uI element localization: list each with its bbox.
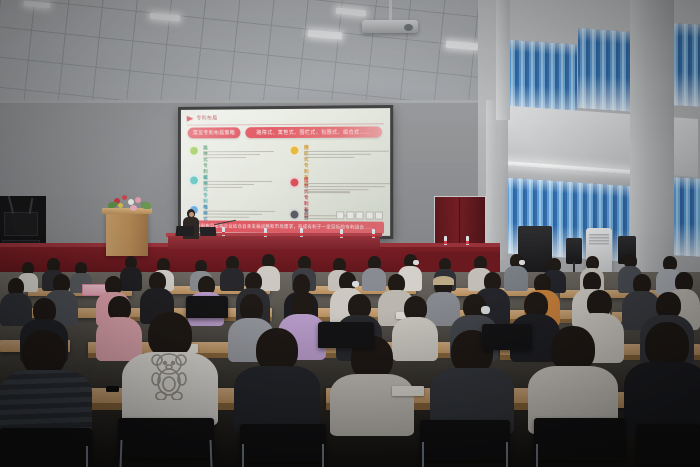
water-bottle [300, 228, 303, 237]
window-blinds-lower-right[interactable] [672, 177, 700, 257]
bullet-text-lines [304, 183, 390, 194]
flower-green-leaf [141, 202, 151, 209]
slide-pill-right: 路障式、篱笆式、围栏式、包围式、组合式…… [245, 126, 382, 138]
chair[interactable] [118, 418, 214, 458]
window-blinds-upper-right[interactable] [670, 23, 700, 107]
bullet-text-lines [203, 181, 274, 189]
podium [106, 212, 148, 256]
chair[interactable] [186, 296, 228, 318]
attendee-torso [234, 366, 320, 432]
slide-pager[interactable] [336, 211, 383, 219]
wall-ceiling-joint [0, 100, 500, 103]
lecture-hall-photo: 专利布局 常见专利布局策略 路障式、篱笆式、围栏式、包围式、组合式…… 路障式专… [0, 0, 700, 467]
av-speaker-box [4, 212, 38, 236]
pager-cell[interactable] [355, 211, 363, 219]
water-bottle [444, 236, 447, 245]
attendee [624, 322, 700, 432]
slide-surface: 专利布局 常见专利布局策略 路障式、篱笆式、围栏式、包围式、组合式…… 路障式专… [181, 108, 390, 236]
attendee [528, 326, 618, 430]
laptop [200, 227, 217, 236]
face-mask-icon [413, 260, 419, 265]
red-arrow-icon [187, 116, 194, 122]
attendee-torso [330, 374, 414, 436]
face-mask-icon [481, 306, 490, 314]
slide-header-title: 专利布局 [196, 115, 217, 122]
projector-lens-icon [404, 24, 413, 31]
projection-screen[interactable]: 专利布局 常见专利布局策略 路障式、篱笆式、围栏式、包围式、组合式…… 路障式专… [178, 105, 393, 239]
chair[interactable] [318, 322, 374, 348]
baseball-cap-icon [433, 276, 454, 285]
flower-red [122, 195, 127, 200]
flower-green-leaf [108, 202, 117, 208]
flower-pink [130, 205, 137, 211]
chair-leg [242, 444, 244, 467]
slide-pill-left: 常见专利布局策略 [188, 127, 241, 138]
chair[interactable] [0, 428, 92, 467]
bullet-dot-icon [189, 145, 200, 156]
chair-leg [422, 442, 424, 467]
mobile-phone[interactable] [106, 386, 119, 392]
bullet-dot-icon [289, 145, 300, 156]
chair[interactable] [636, 424, 700, 464]
face-mask-icon [519, 260, 525, 265]
teddy-bear-graphic-icon [148, 352, 190, 400]
chair[interactable] [240, 424, 326, 462]
chair-leg [86, 446, 88, 467]
chair[interactable] [482, 324, 532, 350]
hall-door[interactable] [434, 196, 486, 248]
door-center-seam [459, 198, 460, 247]
chair-leg [322, 444, 324, 467]
bullet-dot-icon [189, 175, 200, 186]
pager-cell[interactable] [346, 211, 354, 219]
chair-leg [506, 442, 508, 467]
attendee [234, 328, 320, 428]
bullet-text-lines [203, 151, 274, 159]
chair-leg [536, 444, 538, 467]
structural-column-near-door [486, 100, 508, 260]
projector-mount-pole [389, 0, 392, 22]
blind-glow [670, 71, 700, 107]
structural-column [630, 0, 674, 272]
bullet-text-lines [203, 211, 274, 220]
blind-glow [672, 222, 700, 256]
chair[interactable] [534, 418, 626, 460]
pager-cell[interactable] [336, 211, 344, 219]
face-mask-icon [352, 281, 359, 287]
slide-header: 专利布局 [187, 112, 384, 125]
water-bottle [466, 236, 469, 245]
water-bottle [340, 229, 343, 238]
bullet-dot-icon [289, 177, 300, 188]
water-bottle [372, 229, 375, 238]
pager-cell[interactable] [365, 211, 373, 219]
ac-vent-grille-icon [589, 234, 609, 245]
bullet-dot-icon [289, 209, 300, 220]
flower-yellow [118, 203, 123, 208]
blind-highlight [672, 177, 700, 191]
blind-glow [578, 74, 634, 112]
laptop [175, 226, 194, 236]
water-bottle [222, 227, 225, 236]
wall-return-panel [496, 0, 510, 120]
bullet-text-lines [304, 151, 389, 160]
slide-footer-banner: 专利布局是指企业结合自身发展战略和市场需求，形成有利于一定目标的专利组合…… [187, 220, 384, 234]
window-blinds-upper-mid[interactable] [578, 28, 634, 112]
attendee [330, 336, 414, 432]
chair[interactable] [420, 420, 510, 460]
pager-cell[interactable] [375, 211, 383, 219]
water-bottle [264, 228, 267, 237]
notebook [392, 386, 424, 396]
flower-arrangement [108, 194, 152, 212]
blind-highlight [670, 23, 700, 38]
attendee-striped-shirt [0, 330, 92, 434]
